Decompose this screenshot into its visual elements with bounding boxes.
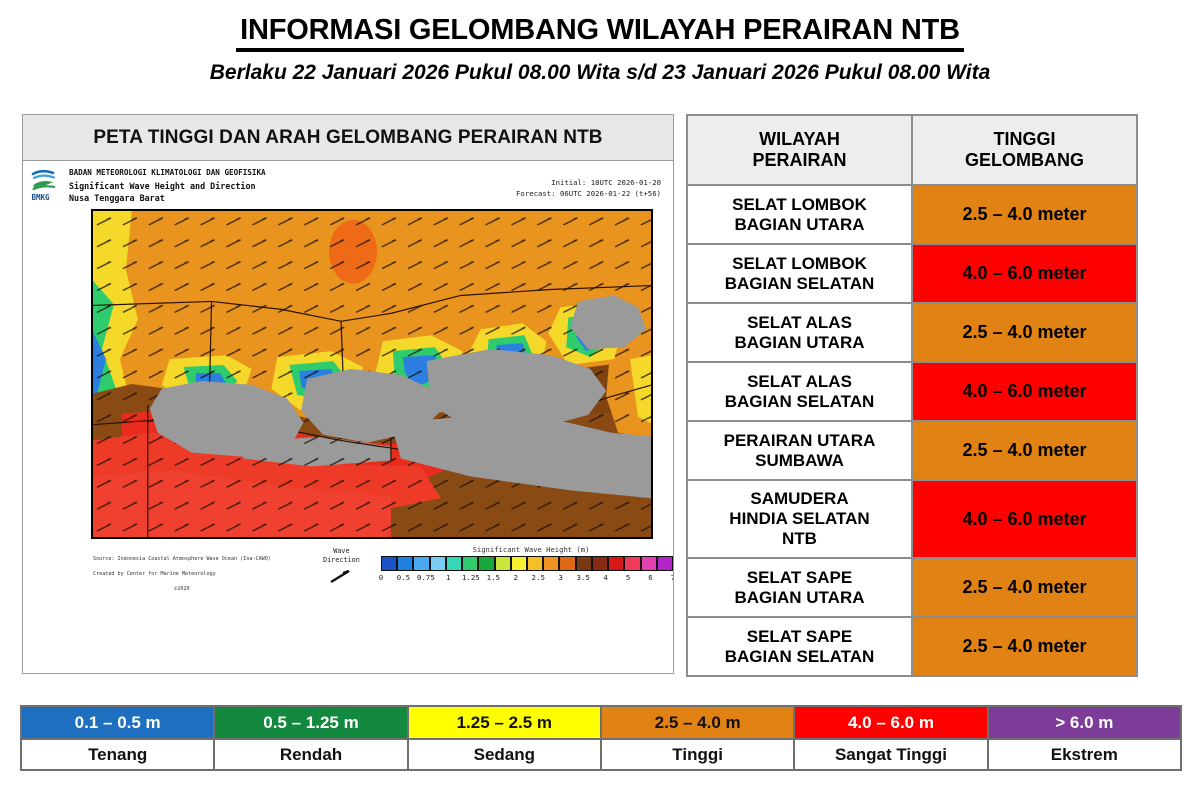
area-line-1: SELAT SAPE [747, 627, 852, 646]
map-panel-title: PETA TINGGI DAN ARAH GELOMBANG PERAIRAN … [23, 115, 673, 161]
colorbar-segment [381, 556, 397, 571]
column-header-area-line2: PERAIRAN [752, 150, 846, 170]
legend-category-label: Ekstrem [989, 738, 1180, 769]
wave-direction-arrow-icon [328, 568, 354, 584]
column-header-height-line2: GELOMBANG [965, 150, 1084, 170]
map-panel: PETA TINGGI DAN ARAH GELOMBANG PERAIRAN … [22, 114, 674, 674]
area-line-1: SELAT ALAS [747, 313, 852, 332]
colorbar-segment [430, 556, 446, 571]
wave-direction-label-1: Wave [323, 547, 360, 556]
cell-wave-height: 4.0 – 6.0 meter [912, 244, 1137, 303]
area-line-2: BAGIAN UTARA [734, 333, 864, 352]
cell-wave-height: 2.5 – 4.0 meter [912, 558, 1137, 617]
area-line-1: SELAT ALAS [747, 372, 852, 391]
map-graphic [92, 210, 652, 538]
legend-category: 0.5 – 1.25 mRendah [215, 707, 408, 769]
colorbar-strip [381, 556, 673, 571]
cell-wave-height: 2.5 – 4.0 meter [912, 421, 1137, 480]
colorbar-segment [543, 556, 559, 571]
colorbar-tick: 5 [626, 573, 630, 582]
table-row: SELAT LOMBOKBAGIAN UTARA2.5 – 4.0 meter [687, 185, 1137, 244]
table-row: SELAT SAPEBAGIAN UTARA2.5 – 4.0 meter [687, 558, 1137, 617]
area-line-1: SAMUDERA [750, 489, 848, 508]
area-line-2: BAGIAN SELATAN [725, 392, 875, 411]
legend-category: 4.0 – 6.0 mSangat Tinggi [795, 707, 988, 769]
legend-range-label: > 6.0 m [989, 707, 1180, 738]
legend-range-label: 0.5 – 1.25 m [215, 707, 406, 738]
source-attribution: Source: Indonesia Coastal Atmosphere Wav… [93, 549, 271, 601]
cell-area-name: SELAT LOMBOKBAGIAN SELATAN [687, 244, 912, 303]
colorbar-tick: 1.25 [462, 573, 480, 582]
legend-category: 0.1 – 0.5 mTenang [22, 707, 215, 769]
colorbar-segment [527, 556, 543, 571]
table-row: SELAT SAPEBAGIAN SELATAN2.5 – 4.0 meter [687, 617, 1137, 676]
colorbar-tick: 6 [648, 573, 652, 582]
column-header-height-line1: TINGGI [994, 129, 1056, 149]
area-line-2: BAGIAN SELATAN [725, 274, 875, 293]
colorbar-segment [641, 556, 657, 571]
colorbar-tick: 0.75 [417, 573, 435, 582]
validity-period: Berlaku 22 Januari 2026 Pukul 08.00 Wita… [0, 61, 1200, 84]
colorbar-segment [608, 556, 624, 571]
colorbar-segment [559, 556, 575, 571]
product-name: Significant Wave Height and Direction [69, 180, 266, 193]
legend-category-label: Tenang [22, 738, 213, 769]
legend-range-label: 1.25 – 2.5 m [409, 707, 600, 738]
region-name: Nusa Tenggara Barat [69, 192, 266, 205]
column-header-height: TINGGI GELOMBANG [912, 115, 1137, 185]
colorbar-tick: 4 [603, 573, 607, 582]
colorbar: Significant Wave Height (m) 00.50.7511.2… [381, 545, 673, 585]
table-row: SELAT LOMBOKBAGIAN SELATAN4.0 – 6.0 mete… [687, 244, 1137, 303]
legend-category: 1.25 – 2.5 mSedang [409, 707, 602, 769]
source-line-3: ©2020 [93, 586, 271, 593]
product-title-lines: BADAN METEOROLOGI KLIMATOLOGI DAN GEOFIS… [69, 167, 266, 205]
colorbar-segment [624, 556, 640, 571]
cell-area-name: SELAT ALASBAGIAN UTARA [687, 303, 912, 362]
colorbar-tick: 0.5 [397, 573, 410, 582]
wave-direction-label-2: Direction [323, 556, 360, 565]
legend-category-label: Sedang [409, 738, 600, 769]
colorbar-tick: 3 [558, 573, 562, 582]
cell-area-name: SELAT LOMBOKBAGIAN UTARA [687, 185, 912, 244]
legend-range-label: 4.0 – 6.0 m [795, 707, 986, 738]
agency-name: BADAN METEOROLOGI KLIMATOLOGI DAN GEOFIS… [69, 167, 266, 180]
colorbar-segment [478, 556, 494, 571]
cell-area-name: SAMUDERAHINDIA SELATANNTB [687, 480, 912, 558]
map-canvas: BMKG BADAN METEOROLOGI KLIMATOLOGI DAN G… [23, 161, 673, 673]
area-line-1: SELAT LOMBOK [732, 195, 867, 214]
colorbar-title: Significant Wave Height (m) [381, 545, 673, 554]
legend-category: > 6.0 mEkstrem [989, 707, 1180, 769]
model-timestamps: Initial: 18UTC 2026-01-20 Forecast: 06UT… [516, 177, 661, 199]
cell-area-name: SELAT SAPEBAGIAN SELATAN [687, 617, 912, 676]
area-line-2: BAGIAN UTARA [734, 588, 864, 607]
legend-category-label: Rendah [215, 738, 406, 769]
legend-category: 2.5 – 4.0 mTinggi [602, 707, 795, 769]
cell-wave-height: 2.5 – 4.0 meter [912, 303, 1137, 362]
page-header: INFORMASI GELOMBANG WILAYAH PERAIRAN NTB… [0, 0, 1200, 85]
area-line-1: SELAT LOMBOK [732, 254, 867, 273]
column-header-area: WILAYAH PERAIRAN [687, 115, 912, 185]
colorbar-tick: 7 [671, 573, 673, 582]
source-line-1: Source: Indonesia Coastal Atmosphere Wav… [93, 556, 271, 562]
cell-wave-height: 2.5 – 4.0 meter [912, 617, 1137, 676]
colorbar-segment [511, 556, 527, 571]
area-line-1: PERAIRAN UTARA [724, 431, 876, 450]
area-line-2: SUMBAWA [755, 451, 844, 470]
product-header: BMKG BADAN METEOROLOGI KLIMATOLOGI DAN G… [31, 167, 667, 207]
column-header-area-line1: WILAYAH [759, 129, 840, 149]
wave-height-table-panel: WILAYAH PERAIRAN TINGGI GELOMBANG SELAT … [686, 114, 1138, 677]
colorbar-tick: 3.5 [576, 573, 589, 582]
page-title: INFORMASI GELOMBANG WILAYAH PERAIRAN NTB [236, 14, 964, 52]
area-line-1: SELAT SAPE [747, 568, 852, 587]
colorbar-segment [495, 556, 511, 571]
svg-text:BMKG: BMKG [32, 193, 51, 202]
colorbar-tick-labels: 00.50.7511.251.522.533.54567 [381, 573, 673, 585]
colorbar-segment [462, 556, 478, 571]
wave-height-table: WILAYAH PERAIRAN TINGGI GELOMBANG SELAT … [686, 114, 1138, 677]
area-line-2: HINDIA SELATAN [729, 509, 869, 528]
initial-time: Initial: 18UTC 2026-01-20 [516, 177, 661, 188]
cell-area-name: PERAIRAN UTARASUMBAWA [687, 421, 912, 480]
cell-wave-height: 2.5 – 4.0 meter [912, 185, 1137, 244]
cell-area-name: SELAT SAPEBAGIAN UTARA [687, 558, 912, 617]
content-area: PETA TINGGI DAN ARAH GELOMBANG PERAIRAN … [0, 110, 1200, 690]
table-body: SELAT LOMBOKBAGIAN UTARA2.5 – 4.0 meterS… [687, 185, 1137, 676]
table-header-row: WILAYAH PERAIRAN TINGGI GELOMBANG [687, 115, 1137, 185]
wave-category-legend: 0.1 – 0.5 mTenang0.5 – 1.25 mRendah1.25 … [20, 705, 1182, 771]
legend-range-label: 2.5 – 4.0 m [602, 707, 793, 738]
colorbar-segment [446, 556, 462, 571]
cell-wave-height: 4.0 – 6.0 meter [912, 362, 1137, 421]
colorbar-tick: 1.5 [487, 573, 500, 582]
colorbar-tick: 2.5 [532, 573, 545, 582]
wave-direction-key: Wave Direction [323, 547, 360, 587]
area-line-3: NTB [782, 529, 817, 548]
colorbar-segment [657, 556, 673, 571]
cell-area-name: SELAT ALASBAGIAN SELATAN [687, 362, 912, 421]
table-row: SELAT ALASBAGIAN UTARA2.5 – 4.0 meter [687, 303, 1137, 362]
source-line-2: Created by Center for Marine Meteorology [93, 571, 216, 577]
legend-category-label: Sangat Tinggi [795, 738, 986, 769]
wave-height-map: 7.75°S 8°S 8.25°S 8.5°S 8.75°S 9°S 9.25°… [91, 209, 653, 539]
area-line-2: BAGIAN SELATAN [725, 647, 875, 666]
table-row: SELAT ALASBAGIAN SELATAN4.0 – 6.0 meter [687, 362, 1137, 421]
cell-wave-height: 4.0 – 6.0 meter [912, 480, 1137, 558]
table-row: SAMUDERAHINDIA SELATANNTB4.0 – 6.0 meter [687, 480, 1137, 558]
table-row: PERAIRAN UTARASUMBAWA2.5 – 4.0 meter [687, 421, 1137, 480]
bmkg-logo-icon: BMKG [31, 168, 65, 202]
colorbar-tick: 2 [514, 573, 518, 582]
area-line-2: BAGIAN UTARA [734, 215, 864, 234]
legend-category-label: Tinggi [602, 738, 793, 769]
colorbar-tick: 1 [446, 573, 450, 582]
colorbar-segment [413, 556, 429, 571]
legend-range-label: 0.1 – 0.5 m [22, 707, 213, 738]
colorbar-segment [592, 556, 608, 571]
forecast-time: Forecast: 06UTC 2026-01-22 (t+56) [516, 188, 661, 199]
wave-forecast-infographic: INFORMASI GELOMBANG WILAYAH PERAIRAN NTB… [0, 0, 1200, 800]
colorbar-segment [397, 556, 413, 571]
colorbar-tick: 0 [379, 573, 383, 582]
colorbar-segment [576, 556, 592, 571]
